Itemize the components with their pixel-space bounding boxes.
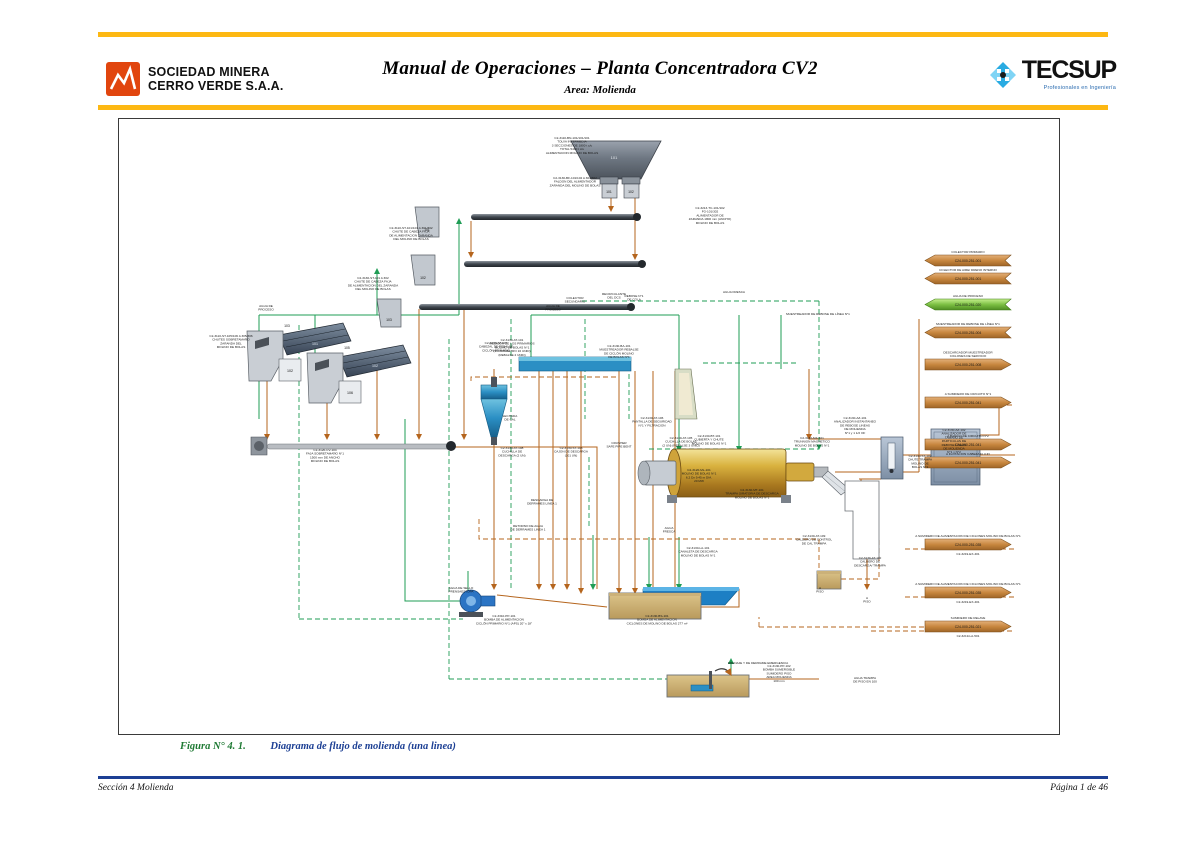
connector-tag: C24-000-251-021 [955, 625, 982, 629]
sampler-column [675, 369, 697, 419]
connector-tag: C24-000-251-020 [955, 303, 982, 307]
equipment-label: C2-3120-CV-104FAJA SOBRETAMAÑO N°11500 m… [306, 448, 344, 463]
svg-text:101: 101 [606, 190, 612, 194]
equipment-label: LECHADADE CAL [503, 414, 519, 422]
connector-subtag: C2-3219-LA-501 [957, 634, 980, 638]
equipment-label: APISO [863, 596, 871, 604]
equipment-label: C2-3130-AT-109CALDERO DE CONTROLDE CAL T… [796, 534, 832, 545]
equipment-label: AGUAFRESCA [663, 526, 676, 534]
connector-tag: C24-000-251-041 [955, 461, 982, 465]
footer-section: Sección 4 Molienda [98, 783, 173, 793]
connector-label: MUESTREADOR DE REBOSE DE LÍNEA N°1 [936, 322, 1000, 326]
off-page-connector: DESCARGADOR MUESTREADORCICLONES DE SERVI… [925, 350, 1011, 370]
figure-frame: 101 101 102 101 102 [118, 118, 1060, 735]
connector-label: DESCARGADOR MUESTREADORCICLONES DE SERVI… [943, 350, 993, 358]
connector-tag: C24-000-251-035 [955, 543, 982, 547]
connector-tag: C24-000-251-035 [955, 591, 982, 595]
equipment-label: C2-3310-PP-101BOMBA DE ALIMENTACIONCICLÓ… [476, 614, 532, 625]
connector-label: AGUA DE PROCESO [953, 294, 984, 298]
equipment-label: C2-3110-BN-101/101/101TOLVA INTERMEDIA3 … [546, 136, 598, 155]
process-flow-diagram: 101 101 102 101 102 [119, 119, 1059, 734]
equipment-label: C2-3130-AZ-102ANALIZADOR DETAMAÑO DEPART… [942, 428, 967, 454]
figure-title: Diagrama de flujo de molienda (una linea… [270, 741, 456, 752]
footer-rule [98, 776, 1108, 779]
connector-tag: C24-000-251-004 [955, 331, 982, 335]
cyclone-feed-pump [459, 590, 495, 617]
fine-ore-bin: 101 101 102 [571, 141, 661, 198]
connector-label: COLECTOR PRIMARIO [951, 250, 985, 254]
connector-subtag: C2-3219-EX-401 [956, 552, 979, 556]
svg-text:102: 102 [287, 369, 293, 373]
connector-tag: C24-000-251-041 [955, 401, 982, 405]
equipment-label: MUESTREADOR DE REBOSE DE LÍNEA N°1 [786, 312, 850, 316]
connector-label: A SUMIDERO DE ALIMENTACION DE CICLONES M… [915, 582, 1021, 586]
equipment-label: C2-3130-AT-101MEDIDOR DE LOS PRIMARIOSMO… [489, 338, 534, 357]
off-page-connector: A SUMIDERO DE CIRCUITO N°1C24-000-251-04… [925, 392, 1011, 408]
equipment-label: AGUA DEPROCESO [258, 304, 274, 312]
off-page-connectors: COLECTOR PRIMARIOC24-000-251-001COLECTOR… [915, 250, 1021, 638]
connector-subtag: C2-3219-EX-401 [956, 600, 979, 604]
figure-caption: Figura N° 4. 1. Diagrama de flujo de mol… [180, 741, 456, 752]
equipment-label: C2-3130-ST-103CAJON DE DESCARGA(101 UN) [554, 446, 589, 457]
off-page-connector: COLECTOR DE AIRE/ DRENO INTERNOC24-000-2… [925, 268, 1011, 284]
connector-label: SUMIDERO DE RELAVE [951, 616, 986, 620]
svg-text:106: 106 [347, 391, 353, 395]
svg-text:102: 102 [420, 276, 426, 280]
equipment-label: C2-3130-AZ-101ANALIZADOR INSTANTANEODE R… [834, 416, 877, 435]
flash-analyzer-cabinet [881, 437, 903, 479]
equipment-label: AGUA FRESCA [723, 290, 746, 294]
equipment-label: C2-3130-AT-110CALDERO DEDESCARGA/ TRAMPA [854, 556, 887, 567]
equipment-label: AGUA DE SELLOPRENSAESTOPA [449, 586, 475, 594]
page-header: SOCIEDAD MINERA CERRO VERDE S.A.A. Manua… [0, 0, 1200, 112]
equipment-label: C2-3130-AT-108CUCHILLA DEDESCARGA (2 UN) [498, 446, 525, 457]
primary-cyclone [481, 377, 507, 445]
off-page-connector: AGUA DE PROCESOC24-000-251-020 [925, 294, 1011, 310]
equipment-label: C2-3130-MA-101TRUNNION MAGNETICOMOLINO D… [794, 436, 831, 447]
connector-label: COLECTOR DE AIRE/ DRENO INTERNO [939, 268, 997, 272]
page-footer: Sección 4 Molienda Página 1 de 46 [98, 783, 1108, 793]
svg-text:103: 103 [386, 318, 392, 322]
off-page-connector: COLECTOR PRIMARIOC24-000-251-001 [925, 250, 1011, 266]
svg-text:103: 103 [284, 324, 290, 328]
equipment-label: C2-3130-AT-106PANTALLA DE SEGURIDADN°1 Y… [632, 416, 672, 427]
connector-label: A SUMIDERO DE ALIMENTACION DE CICLONES M… [915, 534, 1021, 538]
equipment-label: CRUSHERSAFE PIPE BENT [606, 441, 631, 449]
tecsup-wordmark: TECSUP [1022, 58, 1116, 83]
header-rule-bottom [98, 105, 1108, 110]
equipment-label: REBOSE N°1DE COLA [625, 294, 644, 302]
off-page-connector: A SUMIDERO DE ALIMENTACION DE CICLONES M… [915, 582, 1021, 604]
equipment-label: C2-3130-ST-101 A 302CHUTE DE CABEZA FAJA… [348, 276, 399, 291]
tecsup-tagline: Profesionales en Ingeniería [1022, 85, 1116, 91]
figure-number: Figura N° 4. 1. [180, 741, 246, 752]
equipment-label: RETORNO DE AGUADE DERRAMES LINEA 1 [511, 524, 546, 532]
tecsup-logo: TECSUP Profesionales en Ingeniería [988, 58, 1116, 91]
svg-text:105: 105 [344, 346, 350, 350]
equipment-label: AGUA DEPROCESO [545, 304, 561, 312]
floor-sump [667, 669, 749, 697]
connector-label: A SUMIDERO DE CIRCUITO N°1 [945, 392, 992, 396]
off-page-connector: MUESTREADOR DE REBOSE DE LÍNEA N°1C24-00… [925, 322, 1011, 338]
equipment-label: C2-3110-ST-105/106 A 305/306CHUTES SOBRE… [209, 334, 253, 349]
connector-tag: C24-000-251-001 [955, 277, 982, 281]
equipment-label: C2-3130-LA-101CANALETA DE DESCARGAMOLINO… [678, 546, 718, 557]
equipment-label: RECIRCULANTEDEL DCS [602, 292, 626, 300]
equipment-label: AGUA TRAMPADE PISO EN 100 [853, 676, 877, 684]
equipment-label: COLECTORSECUNDARIO [565, 296, 586, 304]
svg-text:102: 102 [628, 190, 634, 194]
connector-tag: C24-000-251-001 [955, 259, 982, 263]
off-page-connector: A SUMIDERO DE ALIMENTACION DE CICLONES M… [915, 534, 1021, 556]
svg-text:101: 101 [312, 342, 318, 346]
svg-text:101: 101 [611, 155, 618, 160]
equipment-label: C2-3130-PP-102BOMBA SUMERGIBLESUMIDERO P… [763, 664, 795, 683]
equipment-label: C2-3130-BF-101/102 A 301/302FALDON DEL A… [550, 176, 601, 187]
equipment-label: C2-3213-TC-101/102FG-101/302ALIMENTADOR … [689, 206, 731, 225]
svg-text:102: 102 [372, 364, 378, 368]
mill-discharge-chute [845, 481, 879, 559]
off-page-connector: SUMIDERO DE RELAVEC24-000-251-021C2-3219… [925, 616, 1011, 638]
header-rule-top [98, 32, 1108, 37]
equipment-label: C2-3110-ST-101/101 A 301/302CHUTE DE CAB… [389, 226, 434, 241]
equipment-label: DESCARGA DEDERRAMES LINEA 1 [527, 498, 557, 506]
pinwheel-arrows-icon [988, 60, 1018, 90]
equipment-label: C2-3130-BT-101CUBIERTA Y CHUTEMOLINO DE … [692, 434, 727, 445]
connector-tag: C24-000-251-008 [955, 363, 982, 367]
footer-page-number: Página 1 de 46 [1050, 783, 1108, 793]
